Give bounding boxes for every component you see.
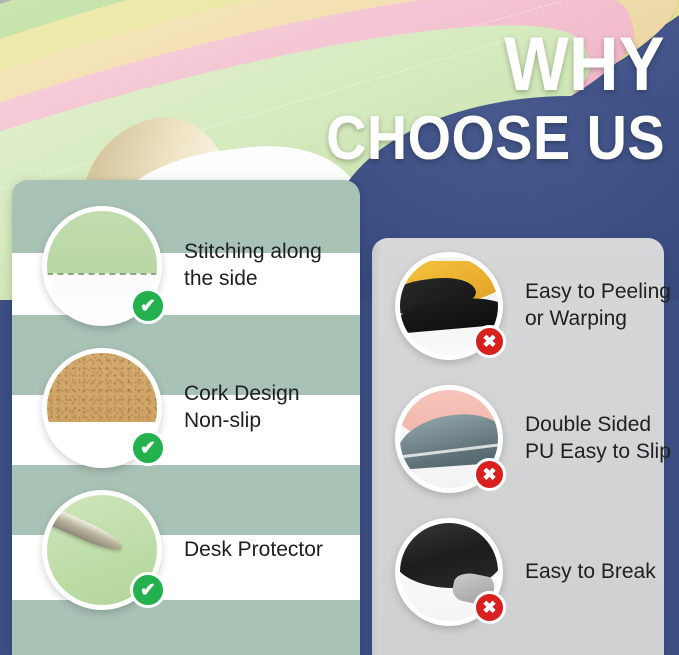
pros-thumbnail: ✔ xyxy=(42,206,162,326)
title-line-2: CHOOSE US xyxy=(287,110,665,167)
pros-item-label: Desk Protector xyxy=(184,537,323,564)
cross-icon: ✖ xyxy=(473,591,506,624)
pros-thumbnail: ✔ xyxy=(42,490,162,610)
check-icon: ✔ xyxy=(130,288,166,324)
cons-item-label: Easy to Peeling or Warping xyxy=(525,279,671,333)
cross-icon: ✖ xyxy=(473,458,506,491)
cons-item-label: Easy to Break xyxy=(525,559,656,586)
pros-item-label: Cork Design Non-slip xyxy=(184,381,300,435)
cons-item: ✖ Easy to Peeling or Warping xyxy=(395,252,671,360)
cross-icon: ✖ xyxy=(473,325,506,358)
pros-item: ✔ Stitching along the side xyxy=(42,206,322,326)
cons-item: ✖ Double Sided PU Easy to Slip xyxy=(395,385,671,493)
page-title: WHY CHOOSE US xyxy=(245,30,665,167)
title-line-1: WHY xyxy=(287,30,665,100)
cons-item: ✖ Easy to Break xyxy=(395,518,656,626)
pros-item-label: Stitching along the side xyxy=(184,239,322,293)
cons-thumbnail: ✖ xyxy=(395,385,503,493)
check-icon: ✔ xyxy=(130,430,166,466)
cons-item-label: Double Sided PU Easy to Slip xyxy=(525,412,671,466)
check-icon: ✔ xyxy=(130,572,166,608)
cons-thumbnail: ✖ xyxy=(395,252,503,360)
pros-item: ✔ Desk Protector xyxy=(42,490,323,610)
cons-thumbnail: ✖ xyxy=(395,518,503,626)
infographic-stage: WHY CHOOSE US ✔ Stitching along the side… xyxy=(0,0,679,655)
pros-item: ✔ Cork Design Non-slip xyxy=(42,348,300,468)
pros-thumbnail: ✔ xyxy=(42,348,162,468)
